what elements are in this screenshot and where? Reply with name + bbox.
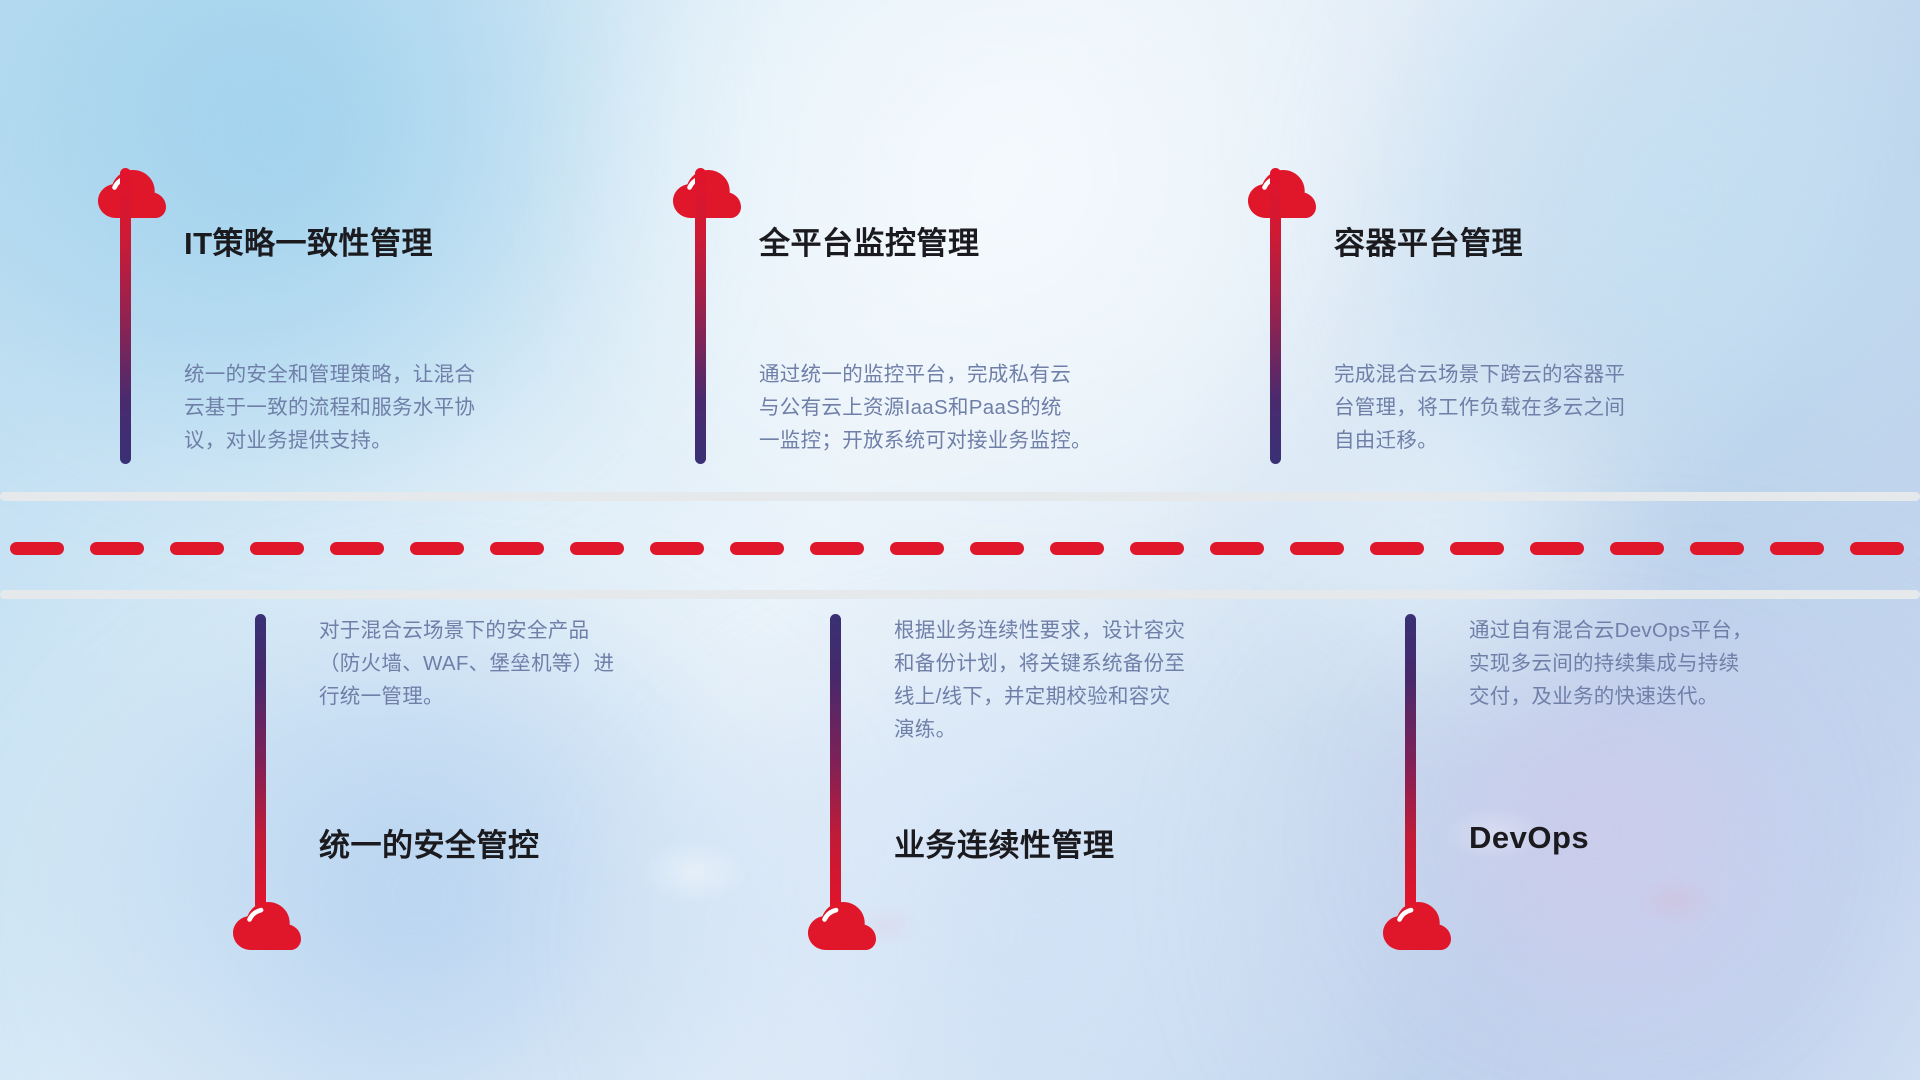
body-line: 线上/线下，并定期校验和容灾 xyxy=(894,680,1254,713)
accent-bar xyxy=(120,168,131,464)
dash-segment xyxy=(730,542,784,555)
body-line: 实现多云间的持续集成与持续 xyxy=(1469,647,1829,680)
dash-segment xyxy=(170,542,224,555)
feature-heading: 容器平台管理 xyxy=(1334,218,1523,263)
body-line: 一监控；开放系统可对接业务监控。 xyxy=(759,424,1139,457)
feature-body: 通过自有混合云DevOps平台， 实现多云间的持续集成与持续 交付，及业务的快速… xyxy=(1469,614,1829,713)
cloud-icon xyxy=(667,160,745,222)
feature-heading: IT策略一致性管理 xyxy=(184,218,433,263)
divider-line-upper xyxy=(0,492,1920,501)
accent-bar xyxy=(1270,168,1281,464)
feature-card-bottom-2: 根据业务连续性要求，设计容灾 和备份计划，将关键系统备份至 线上/线下，并定期校… xyxy=(830,580,1250,1080)
accent-bar xyxy=(830,614,841,910)
dash-segment xyxy=(890,542,944,555)
body-line: 通过自有混合云DevOps平台， xyxy=(1469,614,1829,647)
feature-body: 通过统一的监控平台，完成私有云 与公有云上资源IaaS和PaaS的统 一监控；开… xyxy=(759,358,1139,457)
feature-card-top-2: 全平台监控管理 通过统一的监控平台，完成私有云 与公有云上资源IaaS和PaaS… xyxy=(695,0,1115,500)
cloud-icon xyxy=(227,892,305,954)
dash-segment xyxy=(810,542,864,555)
dash-segment xyxy=(1130,542,1184,555)
dash-segment xyxy=(1850,542,1904,555)
body-line: 台管理，将工作负载在多云之间 xyxy=(1334,391,1694,424)
dash-segment xyxy=(1290,542,1344,555)
body-line: 行统一管理。 xyxy=(319,680,679,713)
feature-heading: 全平台监控管理 xyxy=(759,218,980,263)
dash-segment xyxy=(250,542,304,555)
body-line: 统一的安全和管理策略，让混合 xyxy=(184,358,544,391)
feature-body: 根据业务连续性要求，设计容灾 和备份计划，将关键系统备份至 线上/线下，并定期校… xyxy=(894,614,1254,746)
cloud-icon xyxy=(802,892,880,954)
feature-card-top-1: IT策略一致性管理 统一的安全和管理策略，让混合 云基于一致的流程和服务水平协 … xyxy=(120,0,540,500)
body-line: 对于混合云场景下的安全产品 xyxy=(319,614,679,647)
dash-segment xyxy=(1050,542,1104,555)
feature-heading: 业务连续性管理 xyxy=(894,820,1115,865)
dash-segment xyxy=(1370,542,1424,555)
dash-segment xyxy=(1210,542,1264,555)
dash-segment xyxy=(490,542,544,555)
feature-body: 统一的安全和管理策略，让混合 云基于一致的流程和服务水平协 议，对业务提供支持。 xyxy=(184,358,544,457)
body-line: 与公有云上资源IaaS和PaaS的统 xyxy=(759,391,1139,424)
dash-segment xyxy=(1690,542,1744,555)
body-line: 根据业务连续性要求，设计容灾 xyxy=(894,614,1254,647)
body-line: 演练。 xyxy=(894,713,1254,746)
feature-card-bottom-1: 对于混合云场景下的安全产品 （防火墙、WAF、堡垒机等）进 行统一管理。 统一的… xyxy=(255,580,675,1080)
dash-segment xyxy=(10,542,64,555)
feature-body: 完成混合云场景下跨云的容器平 台管理，将工作负载在多云之间 自由迁移。 xyxy=(1334,358,1694,457)
body-line: 自由迁移。 xyxy=(1334,424,1694,457)
feature-card-bottom-3: 通过自有混合云DevOps平台， 实现多云间的持续集成与持续 交付，及业务的快速… xyxy=(1405,580,1825,1080)
body-line: 议，对业务提供支持。 xyxy=(184,424,544,457)
dash-segment xyxy=(1530,542,1584,555)
dash-segment xyxy=(650,542,704,555)
feature-heading: DevOps xyxy=(1469,820,1589,856)
feature-heading: 统一的安全管控 xyxy=(319,820,540,865)
accent-bar xyxy=(695,168,706,464)
body-line: 交付，及业务的快速迭代。 xyxy=(1469,680,1829,713)
dash-segment xyxy=(970,542,1024,555)
dash-segment xyxy=(1770,542,1824,555)
body-line: 通过统一的监控平台，完成私有云 xyxy=(759,358,1139,391)
dash-segment xyxy=(1450,542,1504,555)
body-line: （防火墙、WAF、堡垒机等）进 xyxy=(319,647,679,680)
body-line: 和备份计划，将关键系统备份至 xyxy=(894,647,1254,680)
body-line: 完成混合云场景下跨云的容器平 xyxy=(1334,358,1694,391)
dash-segment xyxy=(1610,542,1664,555)
dash-segment xyxy=(90,542,144,555)
dash-segment xyxy=(570,542,624,555)
body-line: 云基于一致的流程和服务水平协 xyxy=(184,391,544,424)
accent-bar xyxy=(255,614,266,910)
dashed-separator xyxy=(0,542,1920,555)
cloud-icon xyxy=(92,160,170,222)
accent-bar xyxy=(1405,614,1416,910)
feature-card-top-3: 容器平台管理 完成混合云场景下跨云的容器平 台管理，将工作负载在多云之间 自由迁… xyxy=(1270,0,1690,500)
dash-segment xyxy=(410,542,464,555)
cloud-icon xyxy=(1242,160,1320,222)
dash-segment xyxy=(330,542,384,555)
feature-body: 对于混合云场景下的安全产品 （防火墙、WAF、堡垒机等）进 行统一管理。 xyxy=(319,614,679,713)
cloud-icon xyxy=(1377,892,1455,954)
